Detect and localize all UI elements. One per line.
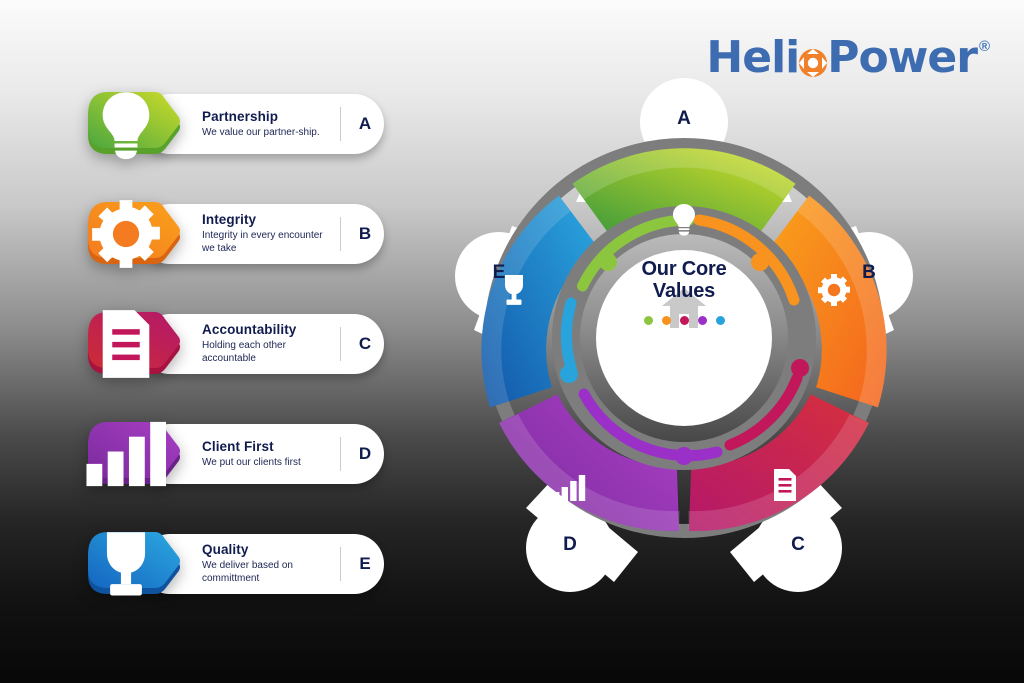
center-dot-a	[644, 316, 653, 325]
list-item-desc: We value our partner-ship.	[202, 127, 324, 140]
divider	[340, 217, 341, 251]
list-item-text: Integrity Integrity in every encounter w…	[202, 212, 336, 255]
center-dot-b	[662, 316, 671, 325]
document-icon	[84, 308, 168, 380]
logo-text-heli: Heli	[706, 36, 799, 80]
list-item-title: Client First	[202, 439, 336, 456]
list-item-text: Partnership We value our partner-ship.	[202, 109, 336, 140]
list-item-letter: B	[354, 224, 376, 244]
list-item-text: Accountability Holding each other accoun…	[202, 322, 336, 365]
list-item[interactable]: Partnership We value our partner-ship. A	[84, 88, 384, 160]
list-item-desc: Holding each other accountable	[202, 340, 324, 366]
list-item[interactable]: Client First We put our clients first D	[84, 418, 384, 490]
center-title-line2: Values	[601, 280, 767, 302]
center-title-line1: Our Core	[601, 258, 767, 280]
list-item-letter: D	[354, 444, 376, 464]
list-item-badge	[84, 198, 188, 270]
divider	[340, 107, 341, 141]
wheel-label-d[interactable]: D	[550, 534, 590, 556]
list-item[interactable]: Integrity Integrity in every encounter w…	[84, 198, 384, 270]
registered-trademark-icon: ®	[979, 38, 990, 55]
divider	[340, 327, 341, 361]
core-values-wheel: Our Core Values A B C D E	[424, 78, 944, 598]
sun-icon	[798, 36, 828, 66]
list-item-title: Accountability	[202, 322, 336, 339]
list-item-desc: Integrity in every encounter we take	[202, 230, 324, 256]
center-dot-d	[698, 316, 707, 325]
wheel-center-text: Our Core Values	[601, 258, 767, 325]
list-item-letter: C	[354, 334, 376, 354]
list-item-desc: We put our clients first	[202, 457, 324, 470]
list-item-badge	[84, 418, 188, 490]
document-icon	[774, 469, 796, 501]
gear-icon	[84, 198, 168, 270]
list-item-badge	[84, 88, 188, 160]
list-item-badge	[84, 308, 188, 380]
wheel-label-a[interactable]: A	[664, 108, 704, 130]
center-dot-e	[716, 316, 725, 325]
list-item-badge	[84, 528, 188, 600]
wheel-label-e[interactable]: E	[479, 262, 519, 284]
trophy-icon	[84, 528, 168, 600]
wheel-label-c[interactable]: C	[778, 534, 818, 556]
list-item[interactable]: Accountability Holding each other accoun…	[84, 308, 384, 380]
center-dots	[601, 316, 767, 325]
wheel-label-b[interactable]: B	[849, 262, 889, 284]
bar-chart-icon	[84, 418, 168, 490]
list-item-desc: We deliver based on committment	[202, 560, 324, 586]
list-item-text: Quality We deliver based on committment	[202, 542, 336, 585]
list-item-letter: A	[354, 114, 376, 134]
divider	[340, 547, 341, 581]
logo-text-power: Power	[827, 36, 977, 80]
list-item[interactable]: Quality We deliver based on committment …	[84, 528, 384, 600]
values-list: Partnership We value our partner-ship. A	[84, 88, 384, 638]
lightbulb-icon	[84, 88, 168, 160]
list-item-title: Quality	[202, 542, 336, 559]
divider	[340, 437, 341, 471]
list-item-text: Client First We put our clients first	[202, 439, 336, 470]
center-dot-c	[680, 316, 689, 325]
list-item-title: Integrity	[202, 212, 336, 229]
brand-logo: Heli Power ®	[706, 36, 990, 80]
list-item-title: Partnership	[202, 109, 336, 126]
list-item-letter: E	[354, 554, 376, 574]
